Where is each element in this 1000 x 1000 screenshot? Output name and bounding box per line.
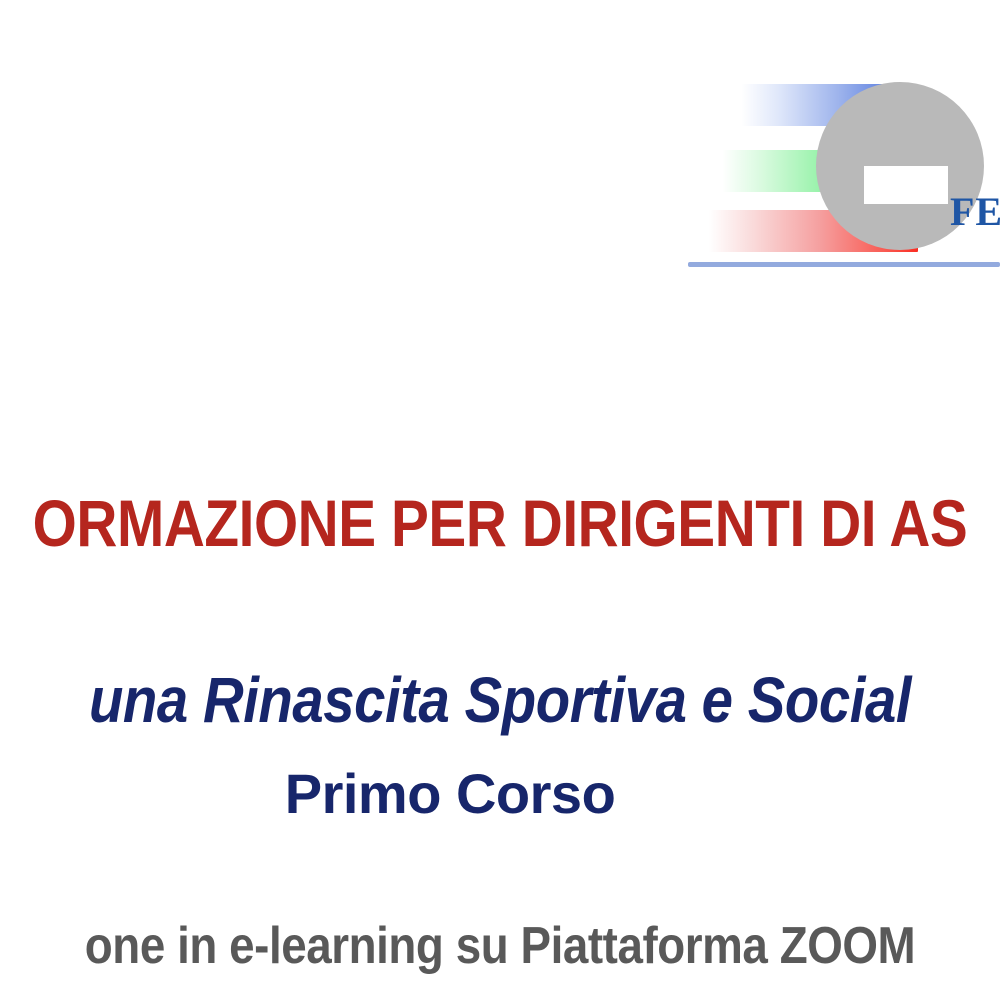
federazione-logo: FE bbox=[688, 78, 1000, 278]
delivery-note-text: one in e-learning su Piattaforma ZOOM bbox=[85, 920, 915, 972]
slide-headline: ORMAZIONE PER DIRIGENTI DI AS bbox=[0, 490, 1000, 556]
gray-disc-notch bbox=[864, 166, 948, 204]
presentation-slide: FE ORMAZIONE PER DIRIGENTI DI AS una Rin… bbox=[0, 0, 1000, 1000]
logo-underline-rule bbox=[688, 262, 1000, 267]
slide-subtitle-text: una Rinascita Sportiva e Social bbox=[89, 668, 911, 732]
delivery-note: one in e-learning su Piattaforma ZOOM bbox=[28, 920, 972, 972]
logo-wordmark: FE bbox=[950, 188, 1000, 235]
logo-gradient-bars bbox=[688, 78, 918, 248]
slide-subtitle: una Rinascita Sportiva e Social bbox=[33, 668, 967, 732]
slide-headline-text: ORMAZIONE PER DIRIGENTI DI AS bbox=[33, 490, 968, 556]
course-label: Primo Corso bbox=[285, 766, 616, 822]
